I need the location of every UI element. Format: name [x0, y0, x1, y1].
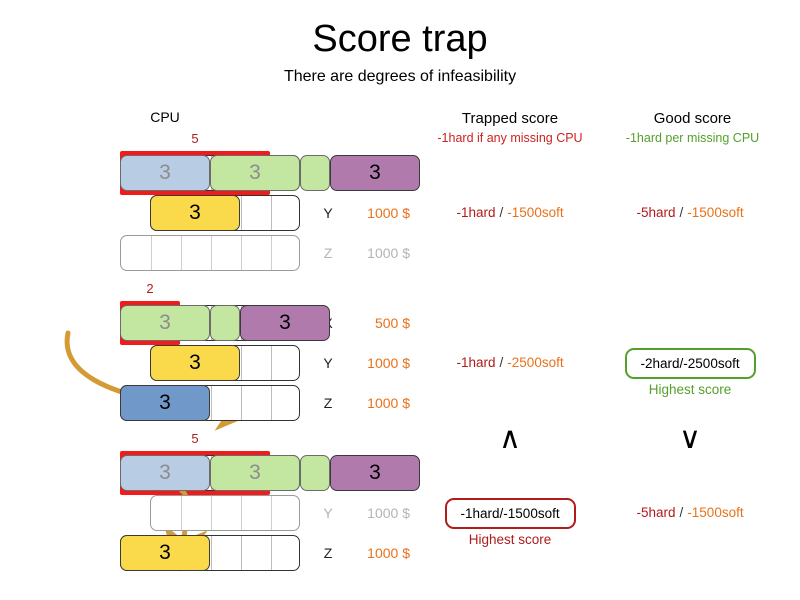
- machine-cost-y: 1000 $: [340, 205, 410, 221]
- process-block: [300, 155, 330, 191]
- score-soft: -1500soft: [687, 205, 743, 220]
- process-block: 3: [120, 385, 210, 421]
- machine-cost-y: 1000 $: [340, 505, 410, 521]
- score-soft: -1500soft: [507, 205, 563, 220]
- score-hard: -1hard: [457, 355, 496, 370]
- score-trapped: -1hard/-1500soft: [457, 205, 564, 220]
- process-block: 3: [210, 455, 300, 491]
- process-block: 3: [120, 455, 210, 491]
- grid-cell-divider: [181, 236, 182, 270]
- grid-cell-divider: [241, 236, 242, 270]
- grid-cell-divider: [211, 386, 212, 420]
- score-hard: -5hard: [637, 505, 676, 520]
- grid-cell-divider: [181, 496, 182, 530]
- score-separator: /: [676, 205, 688, 220]
- process-block: 3: [330, 455, 420, 491]
- process-block: 3: [120, 535, 210, 571]
- grid-cell-divider: [241, 496, 242, 530]
- score-soft: -2500soft: [683, 356, 739, 371]
- machine-grid-z: [120, 235, 300, 271]
- score-hard: -2hard: [641, 356, 680, 371]
- grid-cell-divider: [211, 236, 212, 270]
- grid-cell-divider: [271, 346, 272, 380]
- column-header-good-score: Good score: [605, 110, 780, 127]
- machine-name-y: Y: [318, 505, 338, 521]
- score-hard: -1hard: [457, 205, 496, 220]
- process-block: 3: [150, 195, 240, 231]
- process-block: 3: [210, 155, 300, 191]
- diagram-canvas: Score trap There are degrees of infeasib…: [0, 0, 800, 600]
- score-separator: /: [496, 355, 508, 370]
- machine-name-z: Z: [318, 545, 338, 561]
- score-separator: /: [676, 505, 688, 520]
- score-box-trapped: -1hard/-1500soft: [445, 498, 576, 529]
- process-block: 3: [240, 305, 330, 341]
- comparison-symbol-good: ∨: [670, 424, 710, 454]
- score-trapped: -1hard/-2500soft: [457, 355, 564, 370]
- grid-cell-divider: [271, 196, 272, 230]
- process-block: 3: [120, 305, 210, 341]
- machine-grid-y: [150, 495, 300, 531]
- capacity-label: 2: [130, 281, 170, 296]
- machine-cost-y: 1000 $: [340, 355, 410, 371]
- score-hard: -5hard: [637, 205, 676, 220]
- machine-name-y: Y: [318, 355, 338, 371]
- machine-name-z: Z: [318, 395, 338, 411]
- grid-cell-divider: [151, 236, 152, 270]
- grid-cell-divider: [211, 536, 212, 570]
- grid-cell-divider: [211, 496, 212, 530]
- comparison-symbol-trapped: ∧: [490, 424, 530, 454]
- grid-cell-divider: [241, 386, 242, 420]
- score-soft: -2500soft: [507, 355, 563, 370]
- machine-name-y: Y: [318, 205, 338, 221]
- grid-cell-divider: [271, 386, 272, 420]
- process-block: [210, 305, 240, 341]
- machine-name-z: Z: [318, 245, 338, 261]
- score-hard: -1hard: [461, 506, 500, 521]
- grid-cell-divider: [271, 496, 272, 530]
- score-box-good: -2hard/-2500soft: [625, 348, 756, 379]
- column-header-cpu: CPU: [110, 109, 220, 125]
- page-title: Score trap: [0, 18, 800, 61]
- score-separator: /: [496, 205, 508, 220]
- machine-cost-x: 500 $: [340, 315, 410, 331]
- grid-cell-divider: [271, 536, 272, 570]
- machine-cost-z: 1000 $: [340, 395, 410, 411]
- machine-cost-z: 1000 $: [340, 245, 410, 261]
- score-good: -5hard/-1500soft: [637, 205, 744, 220]
- capacity-label: 5: [175, 131, 215, 146]
- score-soft: -1500soft: [687, 505, 743, 520]
- group-3: 333X500 $Y1000 $3Z1000 $5-1hard/-1500sof…: [0, 0, 800, 1]
- column-header-trapped-score: Trapped score: [415, 110, 605, 127]
- process-block: 3: [150, 345, 240, 381]
- score-good: -5hard/-1500soft: [637, 505, 744, 520]
- score-soft: -1500soft: [503, 506, 559, 521]
- column-rule-good-score: -1hard per missing CPU: [600, 131, 785, 145]
- column-rule-trapped-score: -1hard if any missing CPU: [405, 131, 615, 145]
- grid-cell-divider: [241, 346, 242, 380]
- machine-cost-z: 1000 $: [340, 545, 410, 561]
- process-block: [300, 455, 330, 491]
- process-block: 3: [330, 155, 420, 191]
- process-block: 3: [120, 155, 210, 191]
- highest-score-label-trapped: Highest score: [430, 532, 590, 547]
- grid-cell-divider: [241, 536, 242, 570]
- page-subtitle: There are degrees of infeasibility: [0, 68, 800, 86]
- grid-cell-divider: [241, 196, 242, 230]
- grid-cell-divider: [271, 236, 272, 270]
- highest-score-label-good: Highest score: [610, 382, 770, 397]
- capacity-label: 5: [175, 431, 215, 446]
